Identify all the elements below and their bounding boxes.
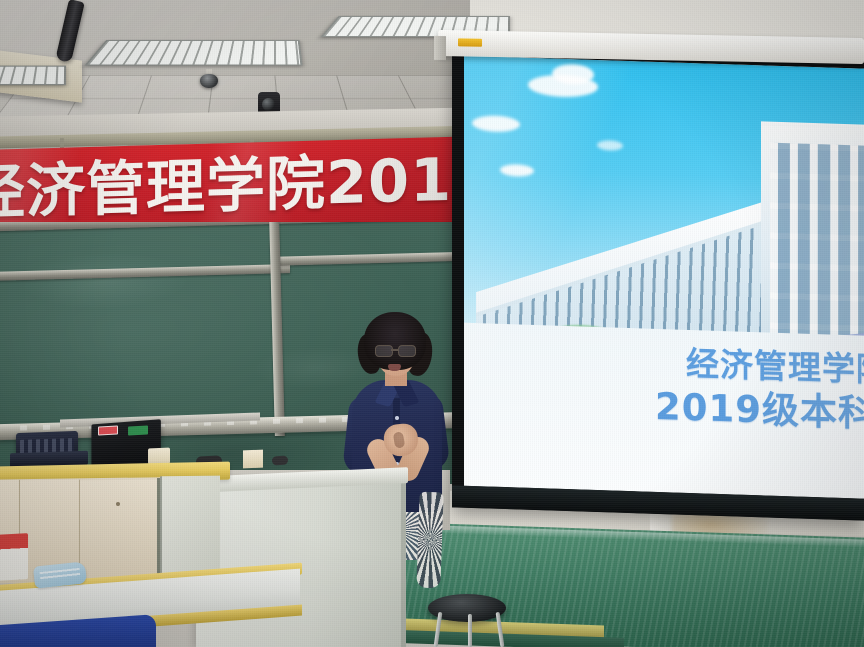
projection-screen: 经济管理学院 2019级本科生见 [452, 45, 864, 520]
cloud [597, 140, 623, 151]
desk-small-box [243, 450, 263, 469]
teacher-mouth [388, 364, 401, 371]
dome-security-camera-icon [200, 74, 218, 88]
classroom-photo-scene: 经济管理学院 2019级本科生见 经济管理学院2019级本科 [0, 0, 864, 647]
projector-lens-icon [262, 98, 275, 111]
fluorescent-light-grid-icon [85, 40, 303, 66]
cloud [472, 115, 520, 133]
projection-screen-surface: 经济管理学院 2019级本科生见 [464, 56, 864, 499]
cabinet-door[interactable] [80, 479, 158, 580]
fluorescent-light-grid-icon [0, 66, 66, 86]
screen-housing-endcap [434, 36, 446, 60]
desk-mouse[interactable] [272, 455, 289, 465]
housing-label-sticker [458, 38, 482, 46]
banner-text: 经济管理学院2019级本科 [0, 137, 470, 231]
cloud [500, 164, 534, 177]
red-label [98, 425, 118, 435]
green-label [128, 425, 148, 435]
hanging-printed-cloth [416, 492, 443, 589]
red-white-item [0, 533, 28, 581]
red-welcome-banner: 经济管理学院2019级本科 [0, 136, 470, 235]
slide-title-block: 经济管理学院 2019级本科生见 [464, 335, 864, 436]
side-cabinet [160, 476, 220, 585]
blouse-button [395, 416, 399, 420]
glasses-icon [374, 345, 416, 356]
cabinet-lock[interactable] [116, 502, 120, 506]
teacher-hair [364, 312, 426, 370]
stool-leg [468, 614, 472, 647]
